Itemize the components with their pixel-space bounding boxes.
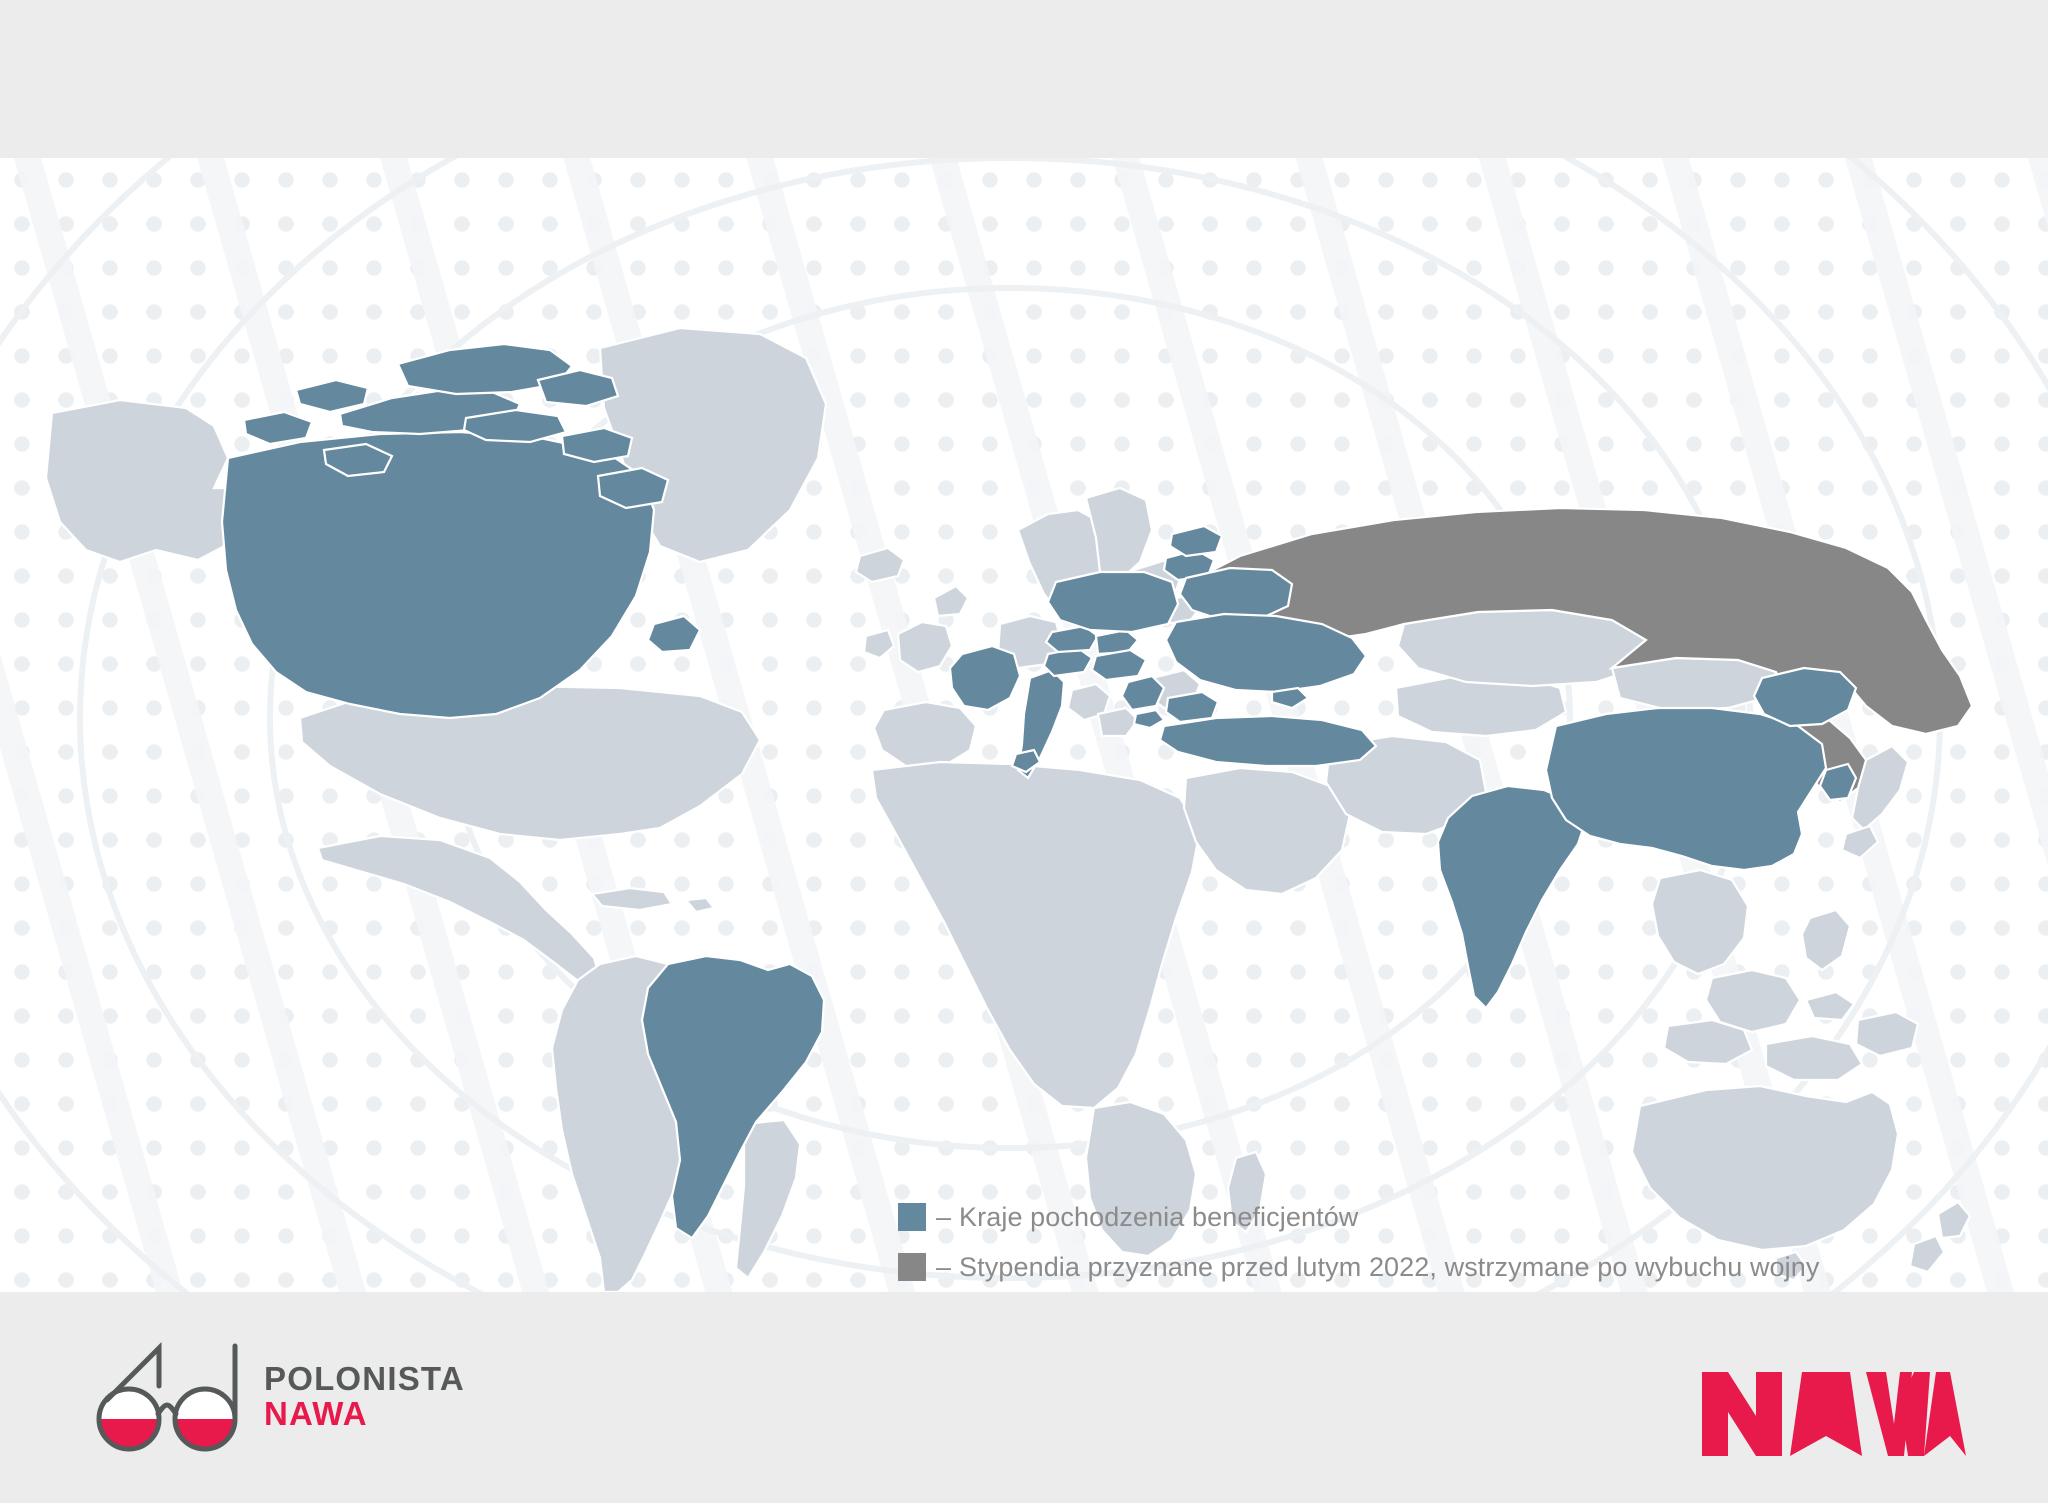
world-map xyxy=(0,158,2048,1292)
glasses-6d-icon xyxy=(92,1338,242,1456)
legend-dash: – xyxy=(936,1252,951,1283)
legend-swatch-gray xyxy=(898,1253,926,1281)
header-band xyxy=(0,0,2048,158)
legend-dash: – xyxy=(936,1202,951,1233)
map-area xyxy=(0,158,2048,1292)
polonista-wordmark: POLONISTA NAWA xyxy=(264,1362,465,1432)
polonista-line-1: POLONISTA xyxy=(264,1362,465,1397)
nawa-wordmark-icon xyxy=(1698,1368,1970,1460)
legend-item-beneficiary: – Kraje pochodzenia beneficjentów xyxy=(898,1192,1819,1242)
legend-label-beneficiary: Kraje pochodzenia beneficjentów xyxy=(959,1202,1358,1233)
legend-item-suspended: – Stypendia przyznane przed lutym 2022, … xyxy=(898,1242,1819,1292)
legend-swatch-blue xyxy=(898,1203,926,1231)
map-legend: – Kraje pochodzenia beneficjentów – Styp… xyxy=(898,1192,1819,1292)
nawa-logo xyxy=(1698,1368,1970,1465)
infographic-poster: KRAJE POCHODZENIA STYPENDYSTÓW – Kraje p… xyxy=(0,0,2048,1503)
legend-label-suspended: Stypendia przyznane przed lutym 2022, ws… xyxy=(959,1252,1819,1283)
polonista-nawa-logo: POLONISTA NAWA xyxy=(92,1338,465,1456)
polonista-line-2: NAWA xyxy=(264,1397,465,1432)
